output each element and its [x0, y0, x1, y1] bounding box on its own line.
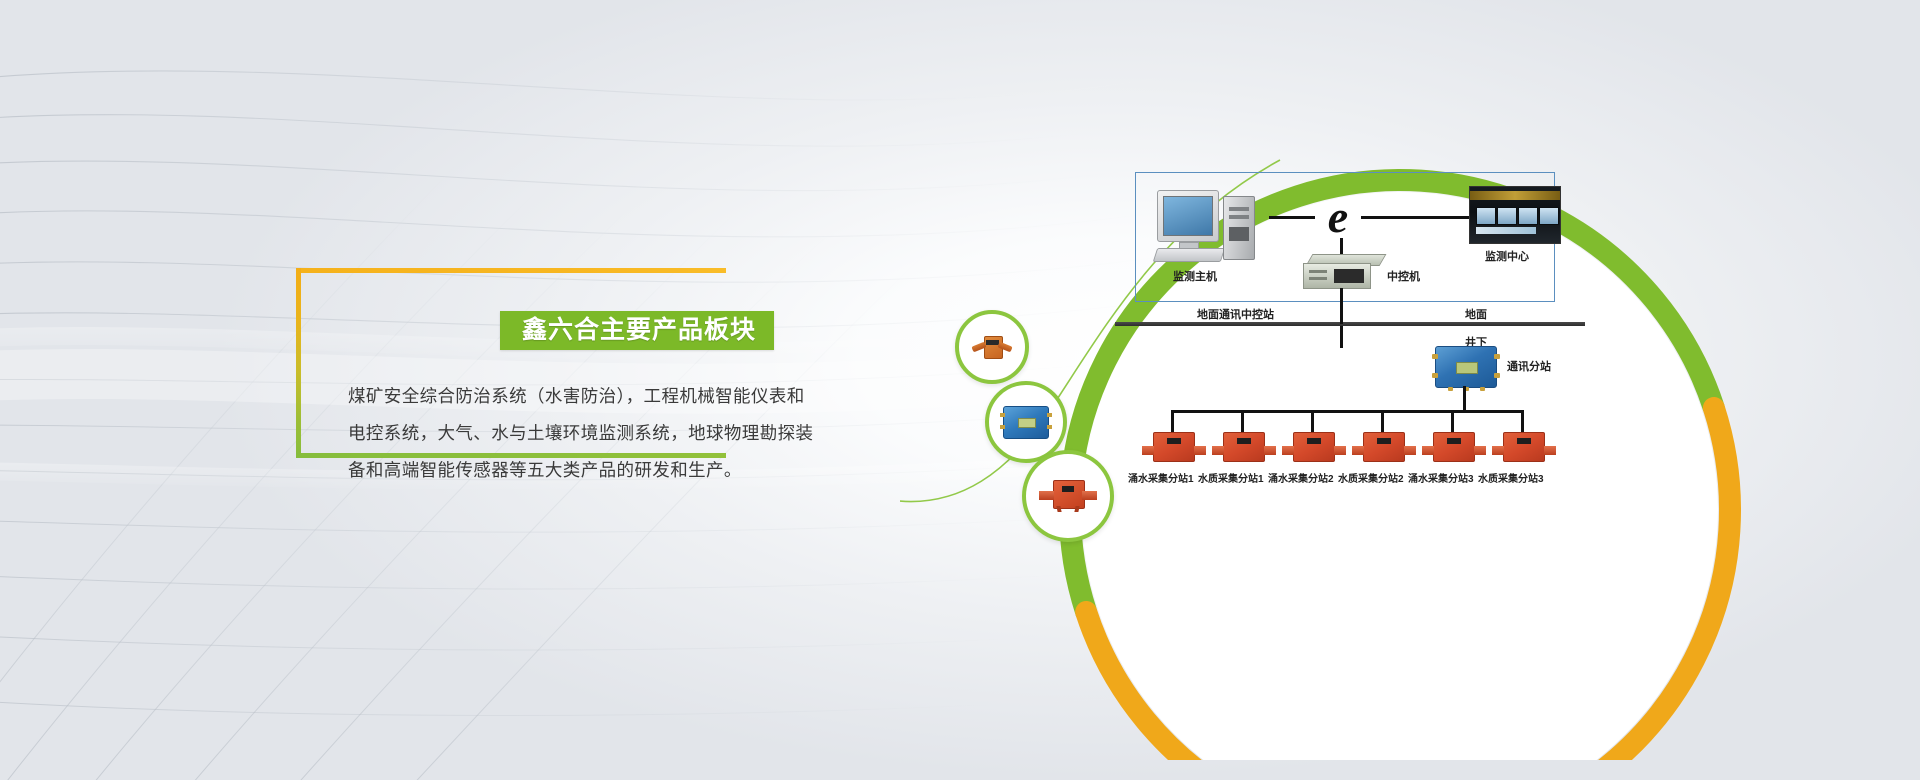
- label-sensor-4: 水质采集分站2: [1338, 470, 1404, 485]
- system-diagram: 监测主机 e 监测中心 中控机 地面通讯中控站 地面 井下: [1135, 150, 1615, 500]
- label-sensor-6: 水质采集分站3: [1478, 470, 1544, 485]
- label-sensor-1: 涌水采集分站1: [1128, 470, 1194, 485]
- wire-branch-4: [1381, 410, 1384, 432]
- section-description: 煤矿安全综合防治系统（水害防治），工程机械智能仪表和 电控系统，大气、水与土壤环…: [348, 378, 868, 489]
- label-controller: 中控机: [1387, 268, 1420, 284]
- blue-junction-box-icon: [1003, 406, 1049, 439]
- banner-stage: 鑫六合主要产品板块 煤矿安全综合防治系统（水害防治），工程机械智能仪表和 电控系…: [0, 0, 1920, 780]
- internet-e-icon: e: [1315, 194, 1361, 240]
- label-surface-zone: 地面: [1465, 306, 1487, 322]
- wire-branch-3: [1311, 410, 1314, 432]
- sensor-icon-1: [1153, 432, 1195, 462]
- wire-sensor-bus: [1171, 410, 1523, 413]
- label-surface-station: 地面通讯中控站: [1197, 306, 1274, 322]
- orange-clamp-sensor-icon: [972, 336, 1012, 358]
- wire-ground-to-substation: [1340, 326, 1343, 348]
- wire-branch-6: [1521, 410, 1524, 432]
- wire-branch-1: [1171, 410, 1174, 432]
- description-line-1: 煤矿安全综合防治系统（水害防治），工程机械智能仪表和: [348, 378, 868, 415]
- red-flow-meter-icon: [1039, 480, 1097, 512]
- sensor-icon-6: [1503, 432, 1545, 462]
- bubble-device-orange[interactable]: [955, 310, 1029, 384]
- text-frame-top-border: [296, 268, 726, 273]
- wire-branch-2: [1241, 410, 1244, 432]
- text-frame-left-border: [296, 268, 301, 458]
- description-line-2: 电控系统，大气、水与土壤环境监测系统，地球物理勘探装: [348, 415, 868, 452]
- wire-network-to-center: [1361, 216, 1471, 219]
- sensor-icon-2: [1223, 432, 1265, 462]
- sensor-icon-4: [1363, 432, 1405, 462]
- ground-divider-line: [1115, 322, 1585, 326]
- rack-server-icon: [1303, 254, 1381, 288]
- label-sensor-3: 涌水采集分站2: [1268, 470, 1334, 485]
- label-monitoring-center: 监测中心: [1485, 248, 1529, 264]
- section-title: 鑫六合主要产品板块: [522, 311, 756, 350]
- desktop-computer-icon: [1157, 190, 1267, 262]
- wire-host-to-network: [1269, 216, 1315, 219]
- wire-controller-to-ground: [1340, 288, 1343, 324]
- section-title-banner: 鑫六合主要产品板块: [500, 311, 774, 350]
- substation-icon: [1435, 346, 1497, 388]
- wire-branch-5: [1451, 410, 1454, 432]
- description-line-3: 备和高端智能传感器等五大类产品的研发和生产。: [348, 452, 868, 489]
- bubble-device-red[interactable]: [1022, 450, 1114, 542]
- video-wall-icon: [1469, 186, 1561, 244]
- sensor-icon-5: [1433, 432, 1475, 462]
- label-monitoring-host: 监测主机: [1173, 268, 1217, 284]
- label-sensor-5: 涌水采集分站3: [1408, 470, 1474, 485]
- wire-substation-drop: [1463, 386, 1466, 412]
- label-substation: 通讯分站: [1507, 358, 1551, 374]
- sensor-icon-3: [1293, 432, 1335, 462]
- label-sensor-2: 水质采集分站1: [1198, 470, 1264, 485]
